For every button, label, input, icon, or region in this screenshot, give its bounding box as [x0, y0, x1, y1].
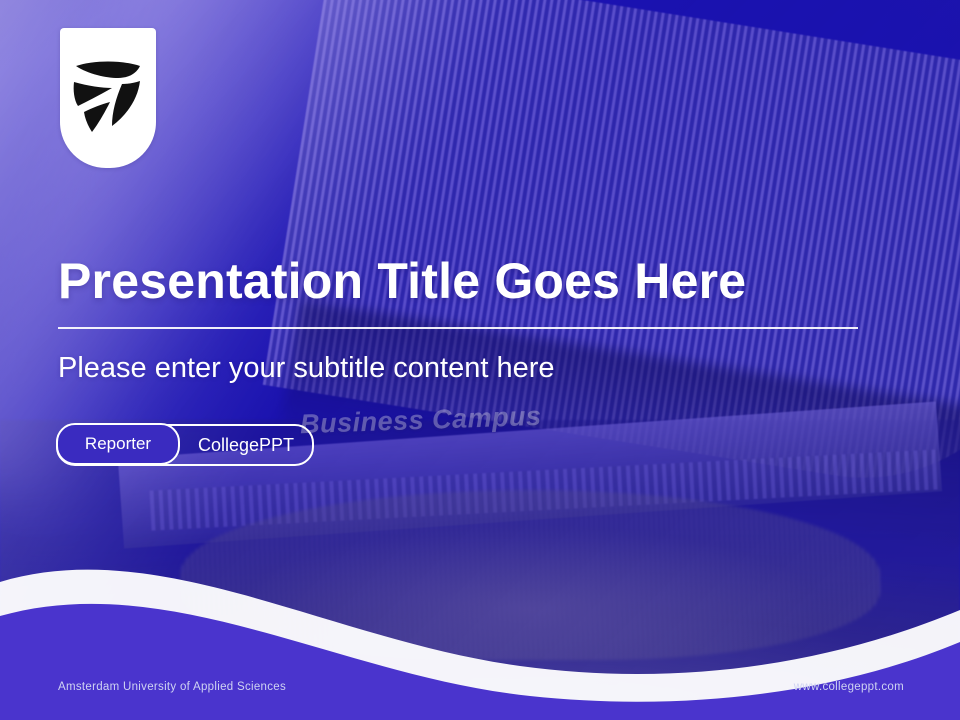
reporter-label: Reporter — [56, 423, 180, 465]
presentation-slide: Business Campus Presentation Title Goes … — [0, 0, 960, 720]
reporter-pill: Reporter CollegePPT — [56, 424, 314, 466]
author-name: CollegePPT — [180, 435, 312, 456]
footer-institution: Amsterdam University of Applied Sciences — [58, 681, 286, 693]
page-title: Presentation Title Goes Here — [58, 252, 746, 310]
logo-mark-icon — [72, 60, 144, 138]
footer-website[interactable]: www.collegeppt.com — [794, 681, 904, 693]
university-shield-logo — [60, 28, 156, 168]
page-subtitle: Please enter your subtitle content here — [58, 352, 555, 385]
title-divider — [58, 327, 858, 329]
